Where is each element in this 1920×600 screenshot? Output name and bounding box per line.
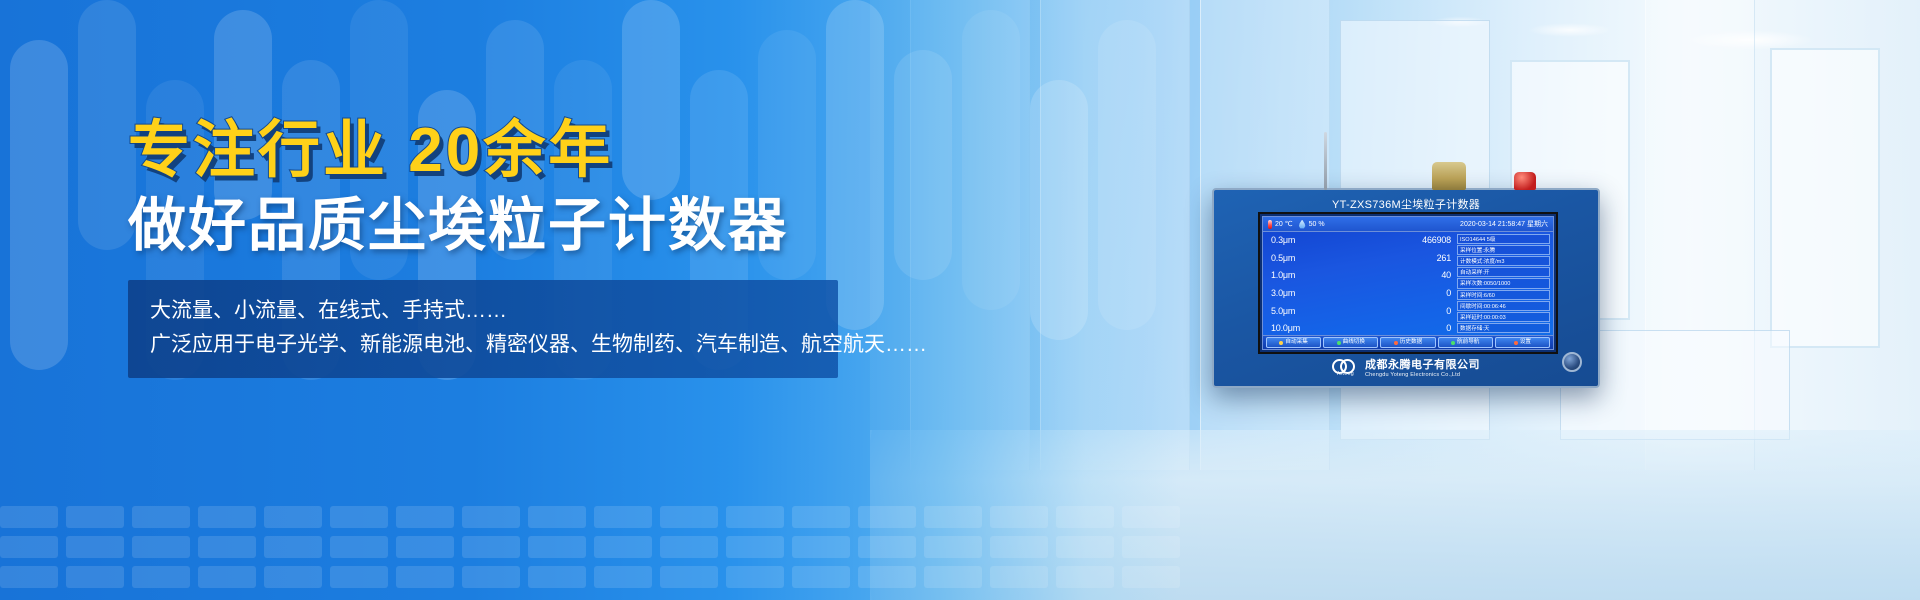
particle-size: 0.5μm <box>1271 253 1295 265</box>
info-row: 数据存储:天 <box>1457 323 1550 333</box>
company-name-cn: 成都永腾电子有限公司 <box>1365 356 1480 372</box>
info-row: 采样位置:永腾 <box>1457 245 1550 255</box>
status-dot-icon <box>1394 341 1398 345</box>
table-row: 0.3μm 466908 <box>1271 235 1451 247</box>
screen-status-bar: 20 ℃ 50 % 2020-03-14 21:58:47 星期六 <box>1263 217 1553 232</box>
power-button[interactable] <box>1562 352 1582 372</box>
particle-size: 10.0μm <box>1271 323 1300 335</box>
particle-counter-device: YT-ZXS736M尘埃粒子计数器 20 ℃ 50 % 2020-03-14 2… <box>1212 188 1600 388</box>
particle-count: 0 <box>1446 306 1451 318</box>
alarm-lamp-icon <box>1514 172 1536 190</box>
company-name-en: Chengdu Yoteng Electronics Co.,Ltd <box>1365 372 1480 378</box>
info-row: 采样时间:6/60 <box>1457 290 1550 300</box>
particle-count: 40 <box>1441 270 1451 282</box>
subtitle-line-2: 广泛应用于电子光学、新能源电池、精密仪器、生物制药、汽车制造、航空航天…… <box>150 328 816 363</box>
table-row: 3.0μm 0 <box>1271 288 1451 300</box>
antenna-icon <box>1324 132 1327 190</box>
thermometer-icon <box>1268 220 1272 229</box>
screen-info-panel: ISO14644 5级 采样位置:永腾 计数模式:浓度/m3 自动采样:开 采样… <box>1457 232 1553 335</box>
device-screen[interactable]: 20 ℃ 50 % 2020-03-14 21:58:47 星期六 0.3μm … <box>1258 212 1558 354</box>
yoteng-logo-icon <box>1332 358 1358 371</box>
particle-count: 0 <box>1446 288 1451 300</box>
temperature-chip: 20 ℃ <box>1268 220 1293 229</box>
info-row: 采样次数:0050/1000 <box>1457 278 1550 288</box>
history-data-button[interactable]: 历史数据 <box>1380 337 1435 348</box>
humidity-value: 50 % <box>1309 221 1325 228</box>
headline-secondary: 做好品质尘埃粒子计数器 <box>128 195 868 258</box>
settings-button[interactable]: 设置 <box>1495 337 1550 348</box>
status-dot-icon <box>1451 341 1455 345</box>
table-row: 1.0μm 40 <box>1271 270 1451 282</box>
info-row: 采样延时:00:00:03 <box>1457 312 1550 322</box>
humidity-chip: 50 % <box>1299 220 1325 229</box>
hero-copy-block: 专注行业 20余年 做好品质尘埃粒子计数器 大流量、小流量、在线式、手持式…… … <box>128 118 868 378</box>
particle-count: 0 <box>1446 323 1451 335</box>
particle-size: 0.3μm <box>1271 235 1295 247</box>
table-row: 10.0μm 0 <box>1271 323 1451 335</box>
water-drop-icon <box>1299 220 1306 229</box>
particle-count-table: 0.3μm 466908 0.5μm 261 1.0μm 40 3.0μm <box>1263 232 1457 335</box>
auto-sample-button[interactable]: 自动采集 <box>1266 337 1321 348</box>
sampling-nozzle-icon <box>1432 162 1466 190</box>
screen-datetime: 2020-03-14 21:58:47 星期六 <box>1460 219 1548 229</box>
device-branding: Yoteng 成都永腾电子有限公司 Chengdu Yoteng Electro… <box>1214 356 1598 378</box>
particle-count: 466908 <box>1422 235 1451 247</box>
info-row: 自动采样:开 <box>1457 267 1550 277</box>
particle-size: 3.0μm <box>1271 288 1295 300</box>
subtitle-panel: 大流量、小流量、在线式、手持式…… 广泛应用于电子光学、新能源电池、精密仪器、生… <box>128 280 838 378</box>
info-row: 间歇时间:00:06:46 <box>1457 301 1550 311</box>
status-dot-icon <box>1337 341 1341 345</box>
navigation-button[interactable]: 航前导航 <box>1438 337 1493 348</box>
headline-primary: 专注行业 20余年 <box>128 118 868 183</box>
particle-size: 5.0μm <box>1271 306 1295 318</box>
device-model-label: YT-ZXS736M尘埃粒子计数器 <box>1214 190 1598 212</box>
info-row: ISO14644 5级 <box>1457 234 1550 244</box>
table-row: 5.0μm 0 <box>1271 306 1451 318</box>
particle-count: 261 <box>1437 253 1451 265</box>
curve-switch-button[interactable]: 曲线切换 <box>1323 337 1378 348</box>
mosaic-strip <box>0 470 1180 600</box>
table-row: 0.5μm 261 <box>1271 253 1451 265</box>
temperature-value: 20 ℃ <box>1275 220 1293 228</box>
info-row: 计数模式:浓度/m3 <box>1457 256 1550 266</box>
subtitle-line-1: 大流量、小流量、在线式、手持式…… <box>150 294 816 329</box>
status-dot-icon <box>1279 341 1283 345</box>
particle-size: 1.0μm <box>1271 270 1295 282</box>
status-dot-icon <box>1514 341 1518 345</box>
hero-banner: 专注行业 20余年 做好品质尘埃粒子计数器 大流量、小流量、在线式、手持式…… … <box>0 0 1920 600</box>
screen-toolbar: 自动采集 曲线切换 历史数据 航前导航 <box>1263 335 1553 349</box>
